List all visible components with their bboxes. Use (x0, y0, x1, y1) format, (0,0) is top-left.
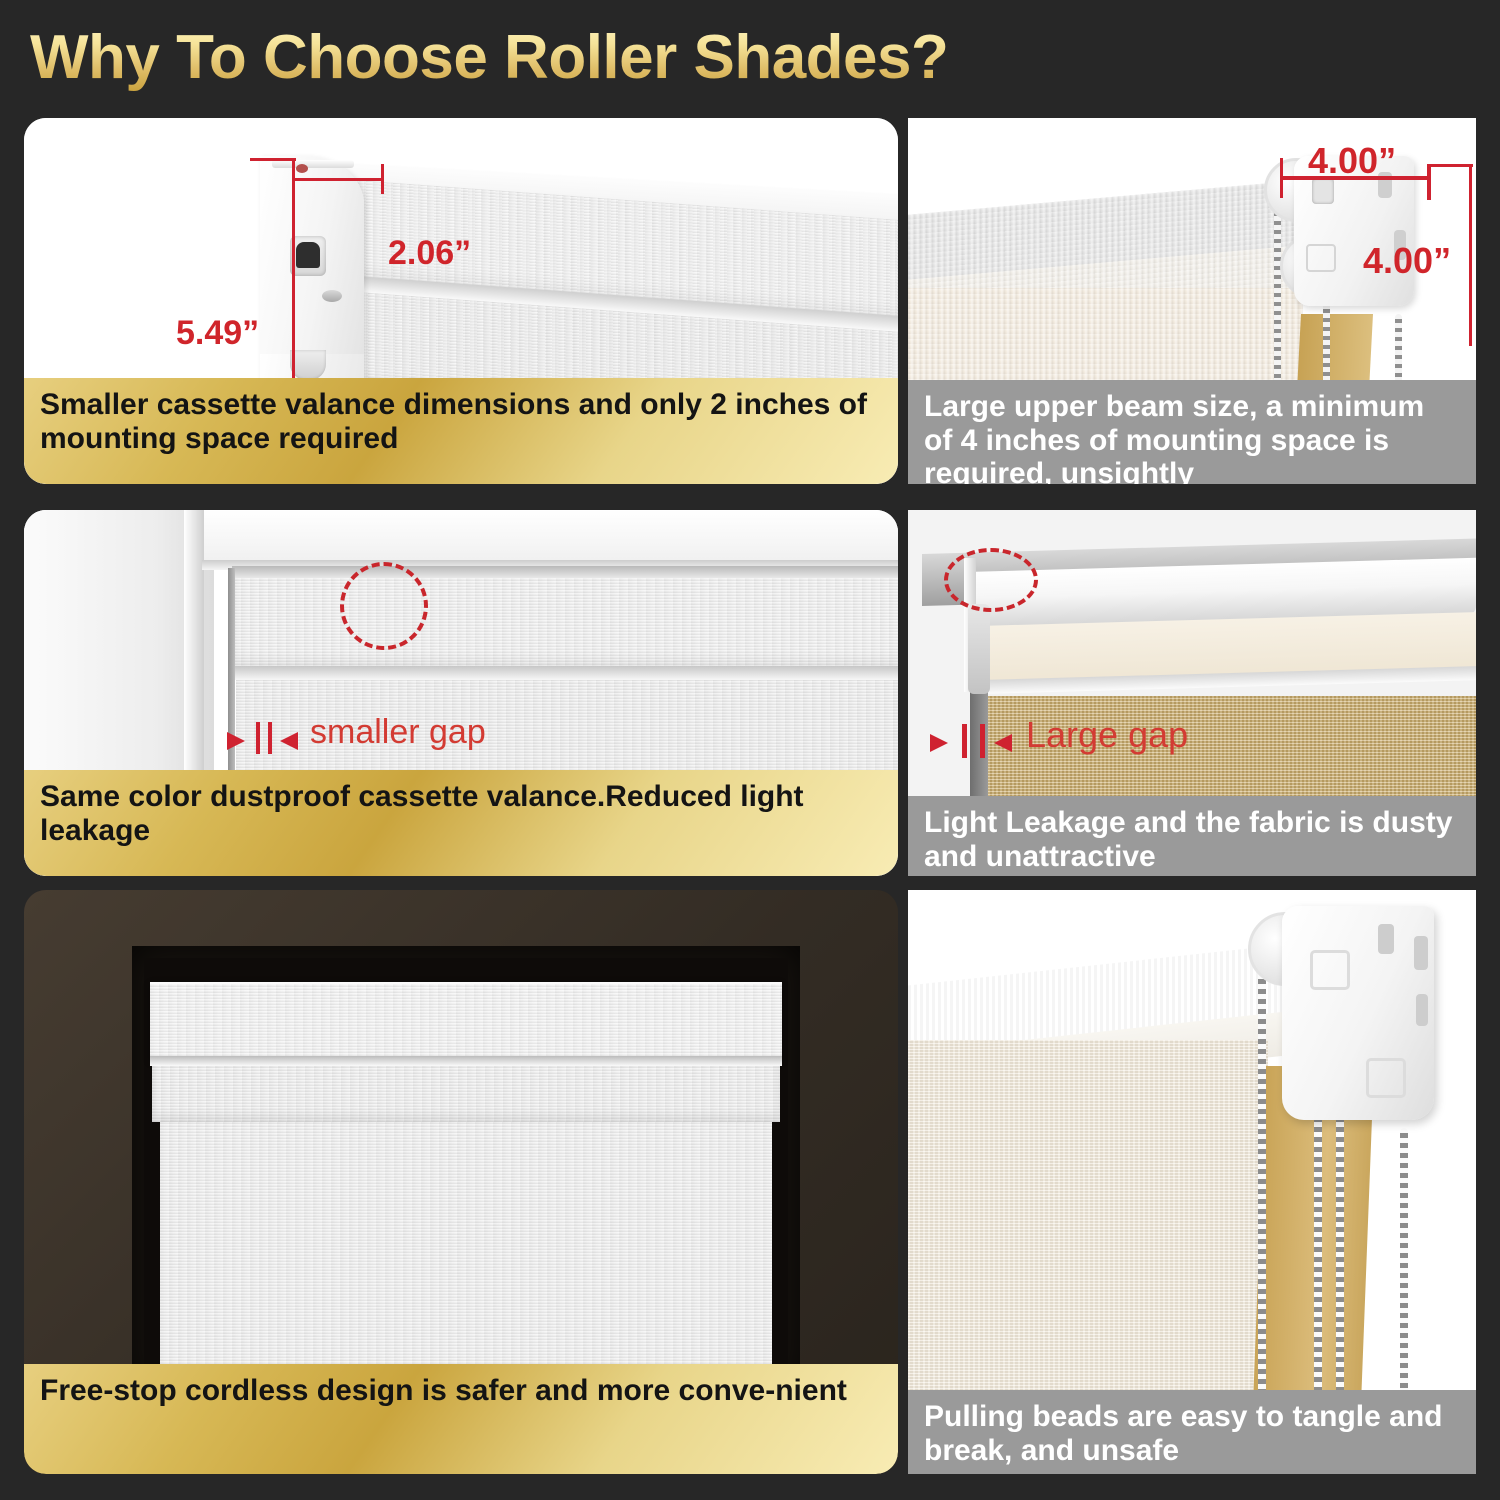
panel-cassette-dimensions: 5.49” 2.06” Smaller cassette valance dim… (24, 118, 898, 484)
gap-arrow-right (280, 732, 298, 750)
gap-arrow-left (227, 732, 245, 750)
page-title: Why To Choose Roller Shades? (30, 22, 948, 93)
caption-large-upper-beam: Large upper beam size, a minimum of 4 in… (908, 380, 1476, 484)
gap-label-smaller: smaller gap (310, 713, 486, 752)
caption-pulling-beads: Pulling beads are easy to tangle and bre… (908, 1390, 1476, 1474)
panel-light-leakage: Large gap Light Leakage and the fabric i… (908, 510, 1476, 876)
dimension-label-height-right: 4.00” (1363, 240, 1451, 282)
panel-pulling-beads: Pulling beads are easy to tangle and bre… (908, 890, 1476, 1474)
panel-cordless-design: Free-stop cordless design is safer and m… (24, 890, 898, 1474)
pulling-beads-photo (908, 890, 1476, 1474)
dimension-label-width-left: 2.06” (388, 234, 471, 273)
caption-dustproof-cassette: Same color dustproof cassette valance.Re… (24, 770, 898, 876)
panel-large-upper-beam: 4.00” 4.00” Large upper beam size, a min… (908, 118, 1476, 484)
dimension-label-width-right: 4.00” (1308, 140, 1396, 182)
caption-cassette-dimensions: Smaller cassette valance dimensions and … (24, 378, 898, 484)
gap-arrow-right (994, 734, 1012, 752)
caption-light-leakage: Light Leakage and the fabric is dusty an… (908, 796, 1476, 876)
gap-highlight-circle (944, 548, 1038, 612)
panel-dustproof-cassette: smaller gap Same color dustproof cassett… (24, 510, 898, 876)
gap-arrow-left (930, 734, 948, 752)
infographic-root: Why To Choose Roller Shades? (0, 0, 1500, 1500)
gap-label-large: Large gap (1026, 714, 1188, 756)
caption-cordless-design: Free-stop cordless design is safer and m… (24, 1364, 898, 1474)
gap-highlight-circle (340, 562, 428, 650)
dimension-label-height-left: 5.49” (176, 314, 259, 353)
